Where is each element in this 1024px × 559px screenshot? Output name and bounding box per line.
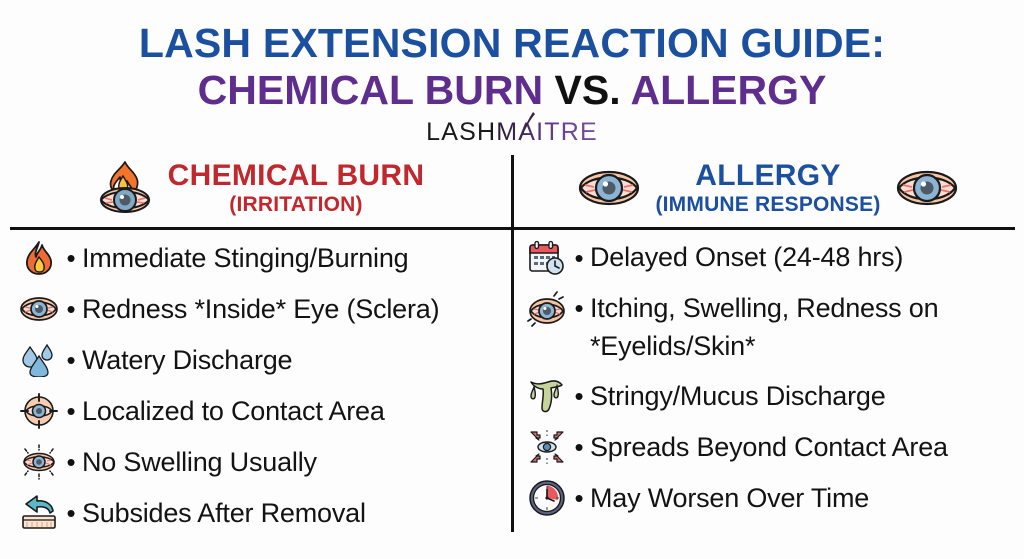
- list-item: • Spreads Beyond Contact Area: [526, 427, 1018, 467]
- list-item-text: Localized to Contact Area: [82, 391, 508, 431]
- page-title-line1: LASH EXTENSION REACTION GUIDE:: [0, 22, 1024, 65]
- list-item-text: Immediate Stinging/Burning: [82, 238, 508, 278]
- list-item-text: Redness *Inside* Eye (Sclera): [82, 289, 508, 329]
- list-item: • Subsides After Removal: [18, 493, 508, 533]
- bullet: •: [60, 391, 82, 431]
- list-item: • Stringy/Mucus Discharge: [526, 376, 1018, 416]
- column-header-main-allergy: ALLERGY: [695, 159, 840, 192]
- bullet: •: [568, 238, 590, 278]
- clock-icon: [526, 478, 568, 518]
- list-item-text: Watery Discharge: [82, 340, 508, 380]
- calendar-clock-icon: [526, 238, 568, 278]
- list-allergy: • Delayed Onset (24-48 hrs) • Itching, S…: [526, 238, 1018, 529]
- brand-logo: LASHMAITRE: [0, 120, 1024, 150]
- list-item-text: Stringy/Mucus Discharge: [590, 376, 1018, 416]
- title-allergy: ALLERGY: [621, 67, 827, 113]
- list-item-text: Subsides After Removal: [82, 493, 508, 533]
- list-item: • Delayed Onset (24-48 hrs): [526, 238, 1018, 278]
- column-header-main-chemical-burn: CHEMICAL BURN: [168, 159, 425, 192]
- list-item: • May Worsen Over Time: [526, 478, 1018, 518]
- bullet: •: [60, 289, 82, 329]
- target-eye-icon: [18, 391, 60, 431]
- fire-icon: [18, 238, 60, 278]
- red-eye-icon: [18, 289, 60, 329]
- water-droplets-icon: [18, 340, 60, 380]
- list-item-text: May Worsen Over Time: [590, 478, 1018, 518]
- title-vs: VS.: [555, 67, 621, 113]
- column-header-text-allergy: ALLERGY (IMMUNE RESPONSE): [655, 161, 880, 215]
- column-header-chemical-burn: CHEMICAL BURN (IRRITATION): [14, 155, 506, 221]
- title-block: LASH EXTENSION REACTION GUIDE: CHEMICAL …: [0, 22, 1024, 112]
- bullet: •: [568, 289, 590, 327]
- infographic-canvas: LASH EXTENSION REACTION GUIDE: CHEMICAL …: [0, 0, 1024, 559]
- list-item: • No Swelling Usually: [18, 442, 508, 482]
- itchy-swollen-eye-icon: [526, 289, 568, 329]
- logo-lash: LASH: [426, 118, 496, 146]
- list-item-text: No Swelling Usually: [82, 442, 508, 482]
- title-chemical-burn: CHEMICAL BURN: [198, 67, 555, 113]
- eye-with-rays-icon: [18, 442, 60, 482]
- column-header-sub-allergy: (IMMUNE RESPONSE): [655, 194, 880, 215]
- page-title-line2: CHEMICAL BURN VS. ALLERGY: [0, 69, 1024, 112]
- mucus-drip-icon: [526, 376, 568, 416]
- list-item: • Itching, Swelling, Redness on *Eyelids…: [526, 289, 1018, 365]
- list-item-text: Spreads Beyond Contact Area: [590, 427, 1018, 467]
- column-header-text-chemical-burn: CHEMICAL BURN (IRRITATION): [168, 161, 425, 215]
- logo-maitre: MAITRE: [496, 118, 598, 146]
- bullet: •: [60, 238, 82, 278]
- return-arrow-skin-icon: [18, 493, 60, 533]
- red-eye-icon: [577, 166, 641, 210]
- spreading-arrows-eye-icon: [526, 427, 568, 467]
- list-item: • Immediate Stinging/Burning: [18, 238, 508, 278]
- list-item-text: Delayed Onset (24-48 hrs): [590, 238, 1018, 276]
- list-item: • Watery Discharge: [18, 340, 508, 380]
- list-item-text: Itching, Swelling, Redness on *Eyelids/S…: [590, 289, 1018, 365]
- bullet: •: [568, 376, 590, 416]
- column-header-allergy: ALLERGY (IMMUNE RESPONSE): [520, 155, 1016, 221]
- bullet: •: [568, 427, 590, 467]
- column-divider-vertical: [511, 155, 514, 532]
- bullet: •: [60, 442, 82, 482]
- list-item: • Localized to Contact Area: [18, 391, 508, 431]
- bullet: •: [568, 478, 590, 518]
- bullet: •: [60, 493, 82, 533]
- column-header-sub-chemical-burn: (IRRITATION): [168, 194, 425, 215]
- list-chemical-burn: • Immediate Stinging/Burning • Redness *…: [18, 238, 508, 544]
- logo-text: LASHMAITRE: [426, 120, 598, 145]
- bullet: •: [60, 340, 82, 380]
- list-item: • Redness *Inside* Eye (Sclera): [18, 289, 508, 329]
- fire-eye-icon: [96, 161, 154, 215]
- red-eye-icon: [895, 166, 959, 210]
